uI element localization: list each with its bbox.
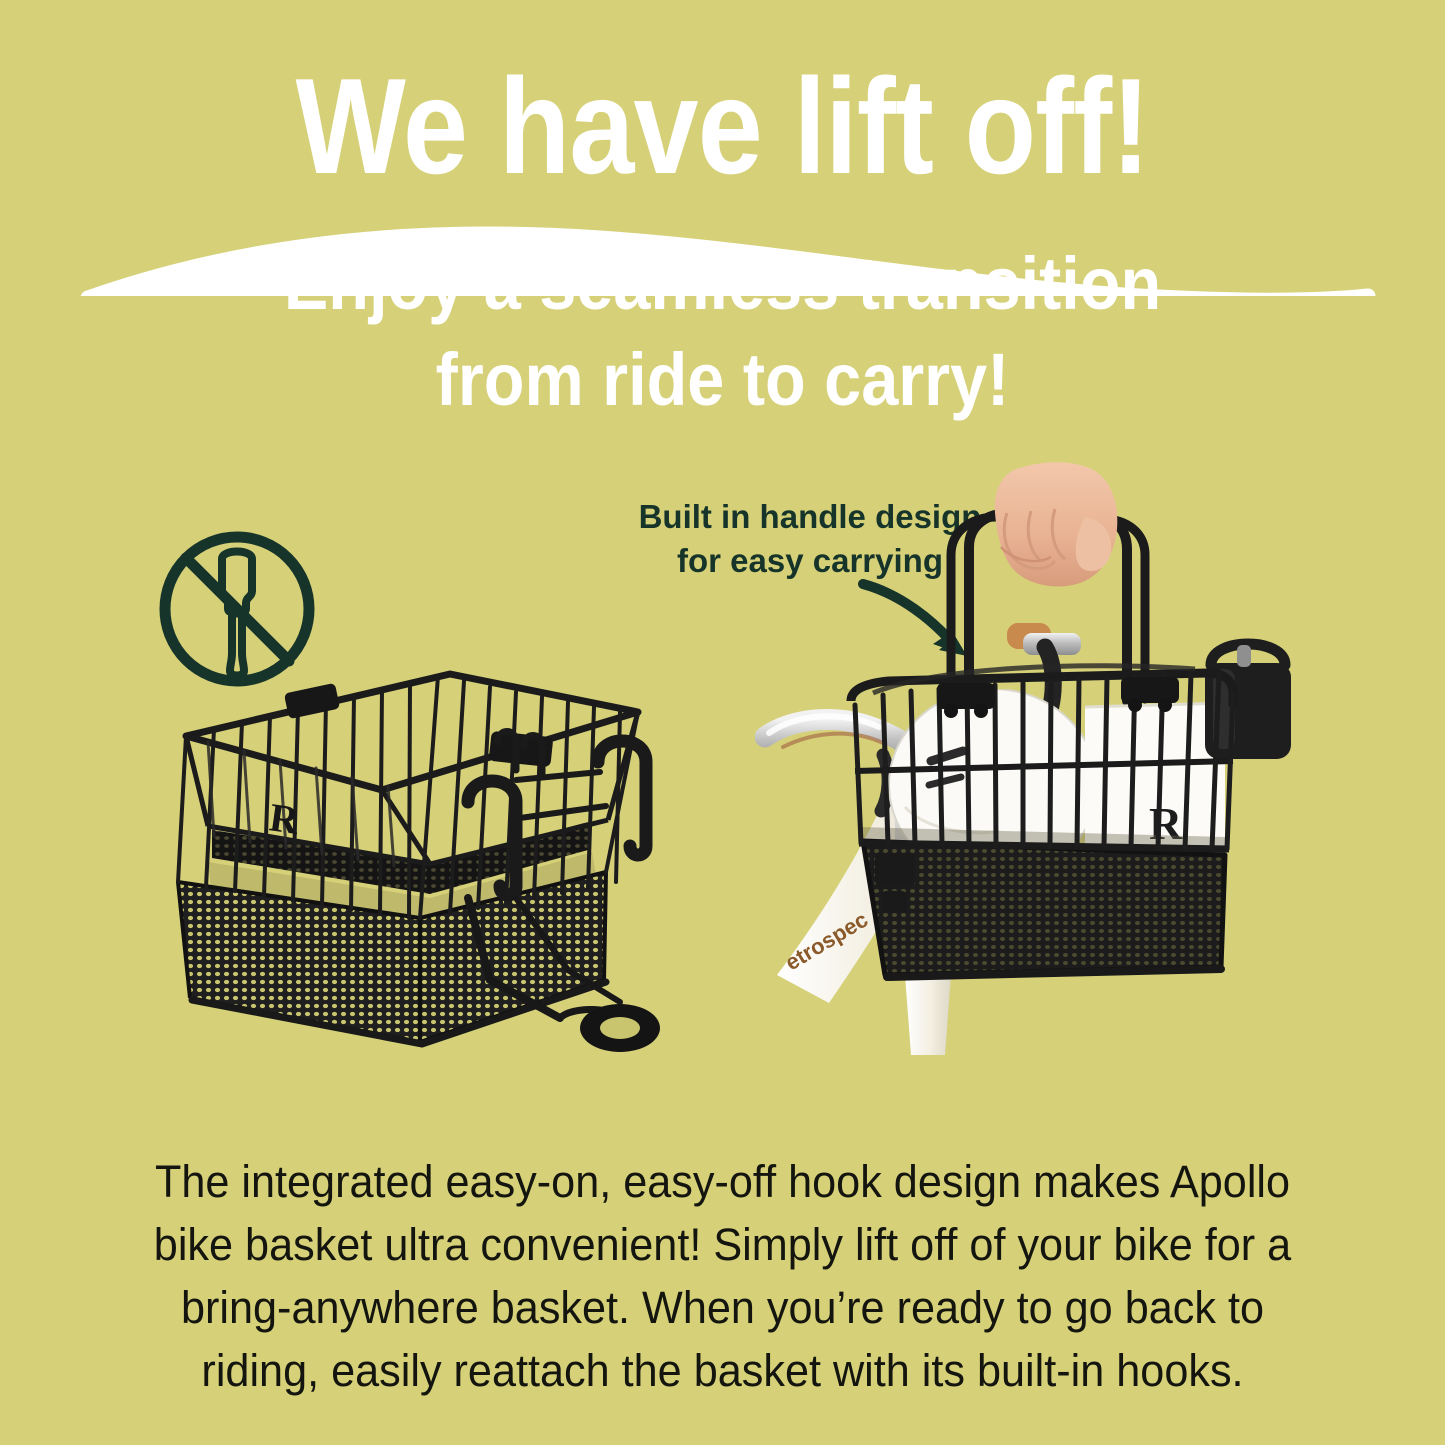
page-title: We have lift off! [101,58,1344,194]
infographic-page: We have lift off! Enjoy a seamless trans… [0,0,1445,1445]
subheading-line-1: Enjoy a seamless transition [72,236,1373,332]
product-photo-basket-on-bike: etrospec [755,455,1335,1055]
hand-gripping-handle [995,462,1118,586]
body-line-3: bring-anywhere basket. When you’re ready… [115,1276,1329,1339]
product-photo-basket-detached: R [168,650,708,1060]
body-line-1: The integrated easy-on, easy-off hook de… [115,1150,1329,1213]
mounting-bracket [284,683,340,719]
headline-block: We have lift off! [0,58,1445,238]
body-line-2: bike basket ultra convenient! Simply lif… [115,1213,1329,1276]
body-line-4: riding, easily reattach the basket with … [115,1339,1329,1402]
strap-loop [580,1004,660,1052]
basket-brand-logo: R [267,794,303,843]
subheading-line-2: from ride to carry! [72,332,1373,428]
body-paragraph: The integrated easy-on, easy-off hook de… [115,1150,1329,1402]
subheading: Enjoy a seamless transition from ride to… [72,236,1373,428]
